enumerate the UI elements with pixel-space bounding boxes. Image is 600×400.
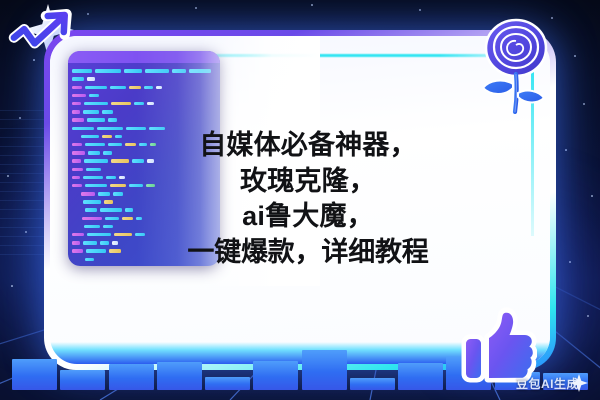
code-token [72, 118, 84, 121]
bar-chart-bar [302, 350, 347, 390]
code-token [72, 86, 82, 89]
trend-up-badge[interactable] [0, 0, 92, 68]
code-token [110, 86, 126, 89]
code-token [84, 102, 108, 105]
code-token [84, 159, 108, 162]
code-line [72, 68, 216, 74]
code-token [129, 86, 141, 89]
code-token [72, 233, 84, 236]
code-line [72, 101, 216, 107]
code-token [82, 217, 102, 220]
star-dot [195, 7, 197, 9]
code-token [72, 110, 80, 113]
code-token [102, 110, 113, 113]
code-token [72, 249, 83, 252]
code-token [95, 69, 121, 72]
code-token [156, 86, 162, 89]
code-token [72, 143, 82, 146]
code-token [84, 225, 100, 228]
bar-chart-bar [60, 370, 105, 390]
poster-canvas: 自媒体必备神器， 玫瑰克隆， ai鲁大魔， 一键爆款，详细教程 [0, 0, 600, 400]
code-token [85, 143, 105, 146]
code-token [86, 168, 101, 171]
bar-chart-bar [398, 363, 443, 390]
code-token [88, 151, 100, 154]
code-token [85, 184, 107, 187]
thumbs-up-icon [461, 305, 537, 385]
code-token [83, 110, 99, 113]
code-token [85, 258, 94, 261]
headline-line-1: 自媒体必备神器， [108, 128, 508, 164]
code-token [147, 102, 154, 105]
star-dot [591, 195, 593, 197]
code-token [72, 77, 84, 80]
code-token [87, 118, 105, 121]
bar-chart-bar [350, 378, 395, 390]
code-token [89, 94, 99, 97]
code-token [144, 86, 153, 89]
star-dot [574, 55, 576, 57]
code-token [72, 127, 94, 130]
code-token [86, 249, 106, 252]
star-dot [311, 4, 313, 6]
watermark: 豆包AI生成 [516, 374, 588, 392]
star-dot [25, 231, 27, 233]
headline-line-4: 一键爆款，详细教程 [108, 235, 508, 271]
star-dot [583, 103, 585, 105]
code-line [72, 93, 216, 99]
code-line [72, 109, 216, 115]
code-token [108, 118, 117, 121]
bar-chart-bar [12, 359, 57, 390]
code-token [83, 200, 101, 203]
code-token [85, 208, 97, 211]
code-token [189, 69, 211, 72]
star-dot [419, 9, 421, 11]
code-token [72, 159, 81, 162]
code-line [72, 117, 216, 123]
code-token [72, 176, 80, 179]
bar-chart-bar [157, 362, 202, 390]
star-dot [565, 149, 567, 151]
sparkle-icon [570, 374, 588, 392]
rose-icon [477, 14, 555, 114]
bar-chart-bar [253, 361, 298, 390]
star-dot [19, 117, 21, 119]
code-token [83, 241, 97, 244]
code-token [81, 135, 99, 138]
code-token [111, 102, 131, 105]
code-token [72, 151, 85, 154]
code-token [72, 168, 83, 171]
code-token [172, 69, 186, 72]
code-token [81, 192, 95, 195]
star-dot [7, 175, 9, 177]
trend-up-arrow-icon [14, 14, 67, 43]
code-line [72, 84, 216, 90]
headline-line-3: ai鲁大魔， [108, 199, 508, 235]
headline-line-2: 玫瑰克隆， [108, 164, 508, 200]
code-token [72, 184, 82, 187]
bar-chart-bar [109, 364, 154, 390]
bar-chart-bar [205, 377, 250, 390]
code-window-titlebar [68, 51, 220, 63]
code-line [72, 76, 216, 82]
code-token [124, 69, 142, 72]
code-token [85, 86, 107, 89]
page-title: 自媒体必备神器， 玫瑰克隆， ai鲁大魔， 一键爆款，详细教程 [108, 128, 508, 271]
code-token [72, 69, 92, 72]
code-token [72, 102, 81, 105]
code-token [83, 176, 103, 179]
code-token [134, 102, 144, 105]
code-token [72, 94, 86, 97]
code-token [87, 77, 95, 80]
code-token [72, 241, 80, 244]
code-token [145, 69, 169, 72]
